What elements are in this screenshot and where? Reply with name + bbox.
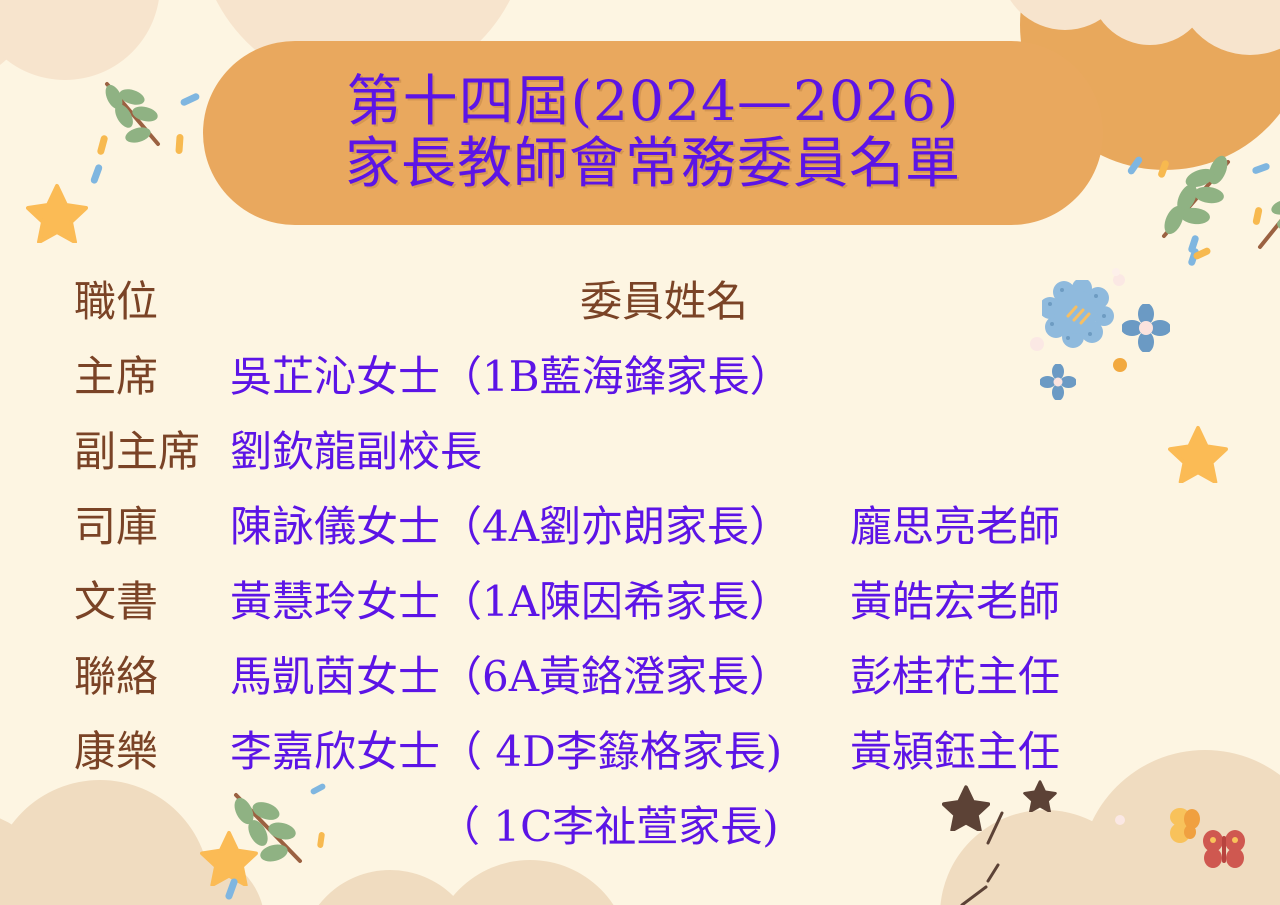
row-position: 康樂 <box>0 718 230 779</box>
header-names: 委員姓名 <box>230 268 1200 329</box>
table-row: 主席 吳芷沁女士（1B藍海鋒家長） <box>0 343 1280 418</box>
row-parent-rep: 陳詠儀女士（4A劉亦朗家長） <box>230 493 850 554</box>
table-row: 司庫 陳詠儀女士（4A劉亦朗家長） 龐思亮老師 <box>0 493 1280 568</box>
poster-canvas: 第十四屆(2024—2026) 家長教師會常務委員名單 職位 委員姓名 主席 吳… <box>0 0 1280 905</box>
table-row-continuation: （ 1C李祉萱家長) <box>0 793 1280 868</box>
confetti-dash <box>1126 155 1143 175</box>
confetti-dash <box>1251 162 1270 175</box>
row-parent-rep: 馬凱茵女士（6A黃鉻澄家長） <box>230 643 850 704</box>
committee-list: 職位 委員姓名 主席 吳芷沁女士（1B藍海鋒家長） 副主席 劉欽龍副校長 司庫 … <box>0 268 1280 868</box>
star-icon <box>26 183 88 243</box>
row-position: 聯絡 <box>0 643 230 704</box>
row-teacher-rep: 黃皓宏老師 <box>850 568 1280 629</box>
table-header-row: 職位 委員姓名 <box>0 268 1280 343</box>
row-parent-rep: 李嘉欣女士（ 4D李籙格家長) <box>230 718 850 779</box>
row-position: 司庫 <box>0 493 230 554</box>
row-position: 主席 <box>0 343 230 404</box>
row-teacher-rep: 龐思亮老師 <box>850 493 1280 554</box>
leaf-branch-icon <box>100 78 170 153</box>
table-row: 副主席 劉欽龍副校長 <box>0 418 1280 493</box>
row-position: 副主席 <box>0 418 230 479</box>
title-line-2: 家長教師會常務委員名單 <box>345 133 961 195</box>
table-row: 文書 黃慧玲女士（1A陳因希家長） 黃皓宏老師 <box>0 568 1280 643</box>
row-parent-rep: 黃慧玲女士（1A陳因希家長） <box>230 568 850 629</box>
title-banner: 第十四屆(2024—2026) 家長教師會常務委員名單 <box>203 41 1103 225</box>
row-position: 文書 <box>0 568 230 629</box>
confetti-dash <box>179 92 200 107</box>
table-row: 康樂 李嘉欣女士（ 4D李籙格家長) 黃潁鈺主任 <box>0 718 1280 793</box>
row-parent-rep: 吳芷沁女士（1B藍海鋒家長） <box>230 343 850 404</box>
title-line-1: 第十四屆(2024—2026) <box>347 71 960 133</box>
row-teacher-rep: 彭桂花主任 <box>850 643 1280 704</box>
confetti-dash <box>175 134 183 154</box>
table-row: 聯絡 馬凱茵女士（6A黃鉻澄家長） 彭桂花主任 <box>0 643 1280 718</box>
confetti-dash <box>90 163 103 184</box>
header-position: 職位 <box>0 268 230 329</box>
row-parent-rep: （ 1C李祉萱家長) <box>230 793 1058 854</box>
row-teacher-rep: 黃潁鈺主任 <box>850 718 1280 779</box>
row-parent-rep: 劉欽龍副校長 <box>230 418 850 479</box>
